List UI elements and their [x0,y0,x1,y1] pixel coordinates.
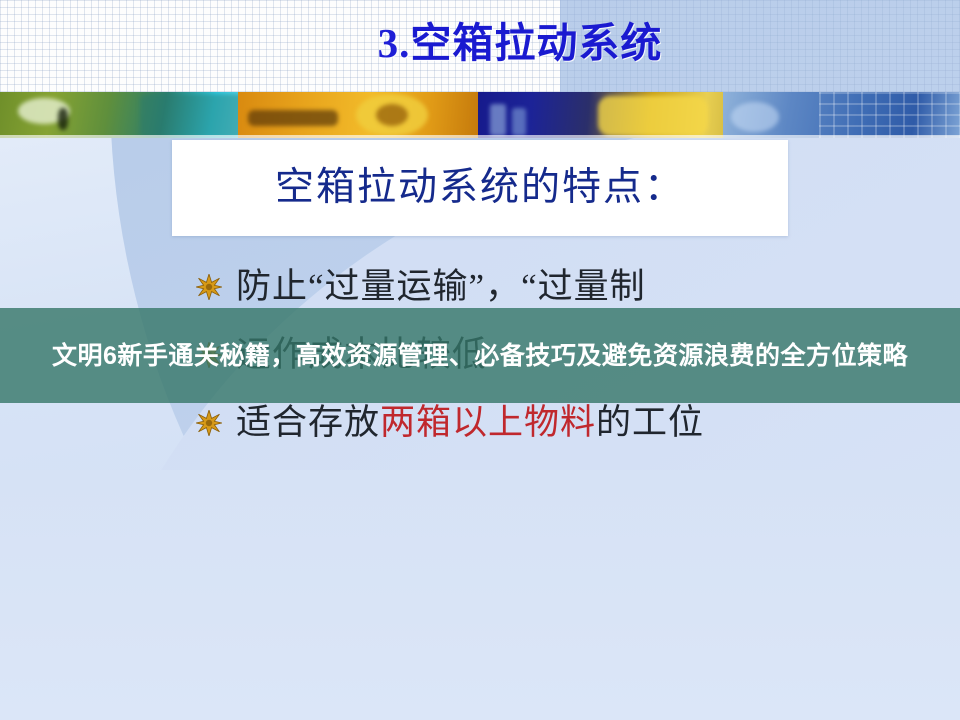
bullet-text: 适合存放两箱以上物料的工位 [236,398,704,448]
teal-panel-shape [140,94,238,138]
slide-title: 3.空箱拉动系统 [0,18,960,68]
mouse-cable-shape [58,108,68,130]
beaker-shape-one [490,104,506,136]
overlay-banner: 文明6新手通关秘籍，高效资源管理、必备技巧及避免资源浪费的全方位策略 [0,308,960,403]
yellow-sample-shape [598,96,708,136]
star-burst-icon [196,274,222,300]
keyboard-blue-photo [723,92,960,138]
drive-spindle-shape [376,104,408,126]
bullet-item: 适合存放两箱以上物料的工位 [196,398,916,450]
subtitle-panel: 空箱拉动系统的特点： [172,140,788,236]
bullet-text-before: 适合存放 [236,403,380,442]
photo-strip [0,92,960,138]
bullet-text-highlight: 两箱以上物料 [380,403,596,442]
beaker-shape-two [512,108,526,136]
star-burst-icon [196,410,222,436]
drive-arm-shape [248,110,338,126]
presentation-slide: 3.空箱拉动系统 空箱拉动系统的特点： [0,0,960,720]
lab-glassware-photo [478,92,723,138]
background-lower-panel [0,470,960,720]
subtitle-text: 空箱拉动系统的特点： [275,165,685,211]
slide-title-number: 3. [378,20,411,66]
computer-mouse-shape [731,102,779,132]
keyboard-keys-shape [819,92,960,138]
slide-title-text: 空箱拉动系统 [410,20,662,66]
mouse-green-photo [0,92,238,138]
overlay-headline: 文明6新手通关秘籍，高效资源管理、必备技巧及避免资源浪费的全方位策略 [52,338,908,374]
bullet-text-after: 的工位 [596,403,704,442]
photo-strip-bottom-edge [0,135,960,138]
bullet-item: 防止“过量运输”，“过量制 [196,262,916,314]
bullet-text: 防止“过量运输”，“过量制 [236,262,646,312]
hard-drive-photo [238,92,478,138]
